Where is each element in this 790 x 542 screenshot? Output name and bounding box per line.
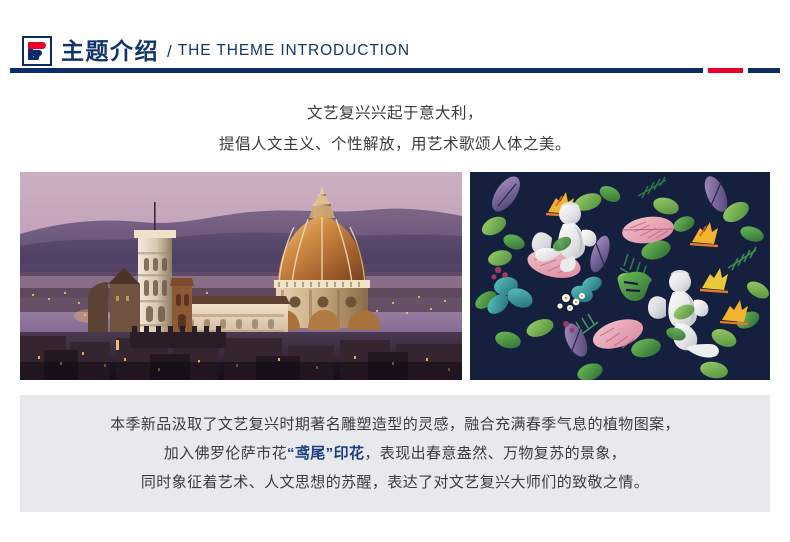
intro-line-1: 文艺复兴兴起于意大利， — [0, 98, 790, 129]
caption-panel: 本季新品汲取了文艺复兴时期著名雕塑造型的灵感，融合充满春季气息的植物图案， 加入… — [20, 395, 770, 512]
intro-line-2: 提倡人文主义、个性解放，用艺术歌颂人体之美。 — [0, 129, 790, 160]
header-divider-rule — [10, 68, 780, 73]
caption-line-2-suffix: ，表现出春意盎然、万物复苏的景象， — [364, 445, 626, 462]
botanical-pattern-illustration — [470, 172, 770, 380]
florence-duomo-photo — [20, 172, 462, 380]
florence-duomo-illustration — [20, 172, 462, 380]
gallery-row — [20, 172, 770, 380]
intro-paragraph: 文艺复兴兴起于意大利， 提倡人文主义、个性解放，用艺术歌颂人体之美。 — [0, 98, 790, 160]
fila-logo-tail — [32, 56, 39, 60]
fila-logo-red-bar — [28, 42, 46, 49]
fila-logo-icon — [22, 36, 52, 66]
botanical-cherub-print — [470, 172, 770, 380]
caption-line-3: 同时象征着艺术、人文思想的苏醒，表达了对文艺复兴大师们的致敬之情。 — [141, 468, 649, 497]
header-accent-segment — [708, 68, 743, 73]
page-title-cn: 主题介绍 — [61, 40, 159, 63]
caption-line-2-prefix: 加入佛罗伦萨市花 — [164, 445, 287, 462]
caption-line-2: 加入佛罗伦萨市花“鸢尾”印花，表现出春意盎然、万物复苏的景象， — [164, 439, 626, 468]
header-title-block: 主题介绍 / THE THEME INTRODUCTION — [22, 34, 416, 68]
page-title-en: THE THEME INTRODUCTION — [178, 43, 410, 59]
caption-highlight-iris: “鸢尾”印花 — [287, 445, 364, 462]
caption-line-1: 本季新品汲取了文艺复兴时期著名雕塑造型的灵感，融合充满春季气息的植物图案， — [110, 410, 680, 439]
header-rule-gap-right — [743, 68, 748, 73]
page-header: 主题介绍 / THE THEME INTRODUCTION — [0, 0, 790, 92]
title-separator: / — [167, 43, 172, 60]
